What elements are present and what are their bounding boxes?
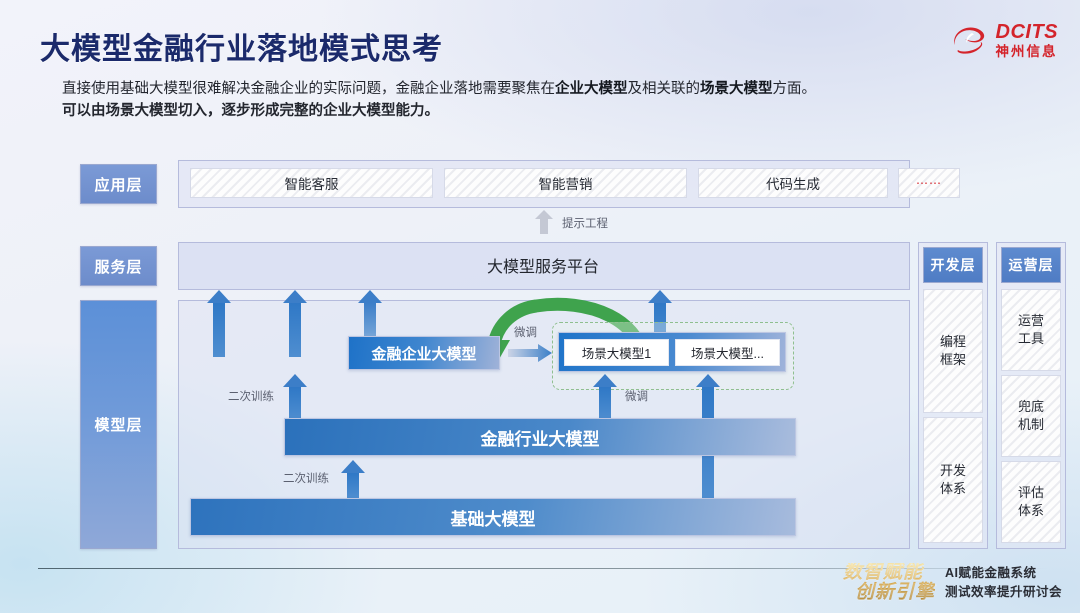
logo-text: DCITS 神州信息 xyxy=(996,22,1059,59)
service-platform-bar: 大模型服务平台 xyxy=(178,242,908,288)
brand-logo: DCITS 神州信息 xyxy=(949,22,1059,59)
arrow-up-industry-to-scene-1 xyxy=(593,374,617,420)
development-layer-column: 开发层 编程框架 开发体系 xyxy=(918,242,988,549)
prompt-engineering-label: 提示工程 xyxy=(562,215,608,231)
layer-tab-model: 模型层 xyxy=(80,300,157,549)
arrow-right-enterprise-to-scene-icon xyxy=(508,344,552,362)
subtitle-seg-c: 及相关联的 xyxy=(628,81,701,97)
ops-cell-fallback-mechanism[interactable]: 兜底机制 xyxy=(1001,375,1061,457)
event-name: AI赋能金融系统 测试效率提升研讨会 xyxy=(945,564,1062,602)
development-layer-header: 开发层 xyxy=(923,247,983,283)
ops-cell-operations-tools[interactable]: 运营工具 xyxy=(1001,289,1061,371)
subtitle-block: 直接使用基础大模型很难解决金融企业的实际问题，金融企业落地需要聚焦在企业大模型及… xyxy=(62,78,1062,122)
dcits-swirl-icon xyxy=(949,23,989,57)
logo-cn-label: 神州信息 xyxy=(996,45,1059,59)
label-retrain-lower: 二次训练 xyxy=(283,470,329,486)
dev-cell-programming-framework[interactable]: 编程框架 xyxy=(923,289,983,413)
page-title: 大模型金融行业落地模式思考 xyxy=(40,24,443,68)
footer: 数智赋能 创新引擎 AI赋能金融系统 测试效率提升研讨会 xyxy=(843,563,1062,603)
dev-cell-development-system[interactable]: 开发体系 xyxy=(923,417,983,543)
event-line-1: AI赋能金融系统 xyxy=(945,564,1062,583)
subtitle-seg-a: 直接使用基础大模型很难解决金融企业的实际问题，金融企业落地需要聚焦在 xyxy=(62,81,555,97)
operations-layer-column: 运营层 运营工具 兜底机制 评估体系 xyxy=(996,242,1066,549)
scene-model-item-1[interactable]: 场景大模型1 xyxy=(564,339,669,366)
ops-cell-evaluation-system[interactable]: 评估体系 xyxy=(1001,461,1061,543)
arrow-up-base-to-industry xyxy=(341,460,365,498)
app-item-more[interactable]: ⋯⋯ xyxy=(898,168,960,198)
arrow-up-model-to-service-1 xyxy=(207,290,231,357)
enterprise-model-box[interactable]: 金融企业大模型 xyxy=(348,336,500,370)
subtitle-line-2: 可以由场景大模型切入，逐步形成完整的企业大模型能力。 xyxy=(62,100,1062,122)
scene-model-item-2[interactable]: 场景大模型... xyxy=(675,339,780,366)
slogan-line-1: 数智赋能 xyxy=(843,562,923,583)
subtitle-line-1: 直接使用基础大模型很难解决金融企业的实际问题，金融企业落地需要聚焦在企业大模型及… xyxy=(62,78,1062,100)
app-item-marketing[interactable]: 智能营销 xyxy=(444,168,687,198)
subtitle-seg-e: 方面。 xyxy=(773,81,817,97)
event-line-2: 测试效率提升研讨会 xyxy=(945,583,1062,602)
logo-en-label: DCITS xyxy=(996,22,1059,42)
label-finetune-right: 微调 xyxy=(514,324,537,340)
subtitle-highlight-scene: 场景大模型 xyxy=(700,81,773,97)
base-model-box[interactable]: 基础大模型 xyxy=(190,498,796,536)
slide-root: 大模型金融行业落地模式思考 直接使用基础大模型很难解决金融企业的实际问题，金融企… xyxy=(0,0,1080,613)
arrow-up-model-to-service-2 xyxy=(283,290,307,357)
label-finetune-center: 微调 xyxy=(625,388,648,404)
label-retrain-upper: 二次训练 xyxy=(228,388,274,404)
arrow-up-industry-to-enterprise xyxy=(283,374,307,420)
layer-tab-service: 服务层 xyxy=(80,246,157,286)
operations-layer-header: 运营层 xyxy=(1001,247,1061,283)
slogan-line-2: 创新引擎 xyxy=(855,583,935,603)
event-slogan-logo: 数智赋能 创新引擎 xyxy=(843,563,935,603)
industry-model-box[interactable]: 金融行业大模型 xyxy=(284,418,796,456)
layer-tab-application: 应用层 xyxy=(80,164,157,204)
subtitle-highlight-enterprise: 企业大模型 xyxy=(555,81,628,97)
architecture-diagram: 应用层 服务层 模型层 智能客服 智能营销 代码生成 ⋯⋯ 提示工程 大模型服务… xyxy=(80,158,1005,553)
scene-model-group: 场景大模型1 场景大模型... xyxy=(558,332,786,372)
app-item-code-generation[interactable]: 代码生成 xyxy=(698,168,888,198)
app-item-customer-service[interactable]: 智能客服 xyxy=(190,168,433,198)
prompt-engineering-arrow-icon xyxy=(535,210,553,234)
